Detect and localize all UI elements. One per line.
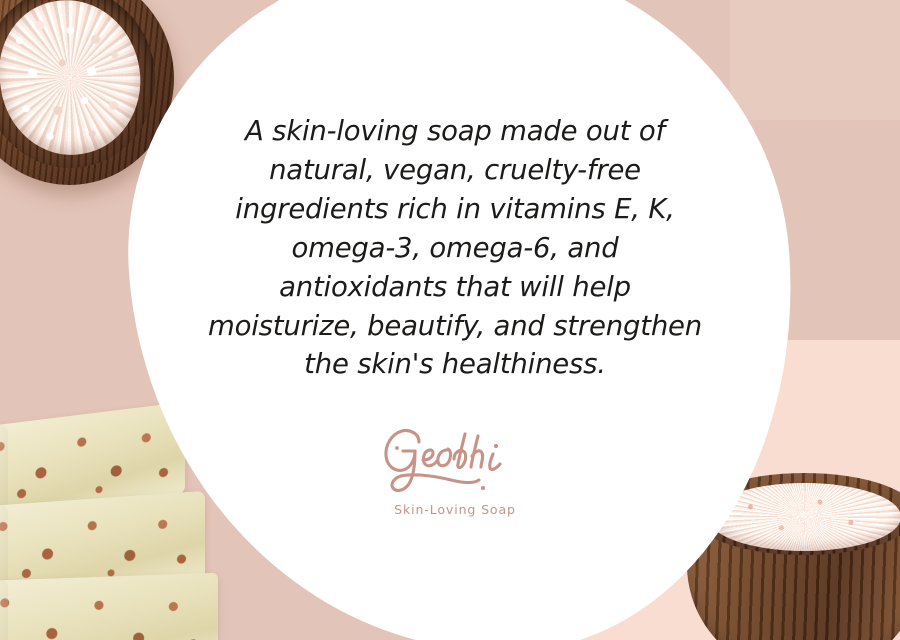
brand-logo: Geodhi Skin-Loving Soap [375,424,535,517]
background-tint-top-right [730,0,900,120]
soap-bar-edge [0,580,8,640]
geodhi-wordmark-icon [375,424,535,498]
poster-canvas: A skin-loving soap made out of natural, … [0,0,900,640]
soap-bar [0,573,218,640]
card-content: A skin-loving soap made out of natural, … [150,112,760,517]
product-description: A skin-loving soap made out of natural, … [205,112,705,384]
logo-tagline: Skin-Loving Soap [394,502,516,517]
